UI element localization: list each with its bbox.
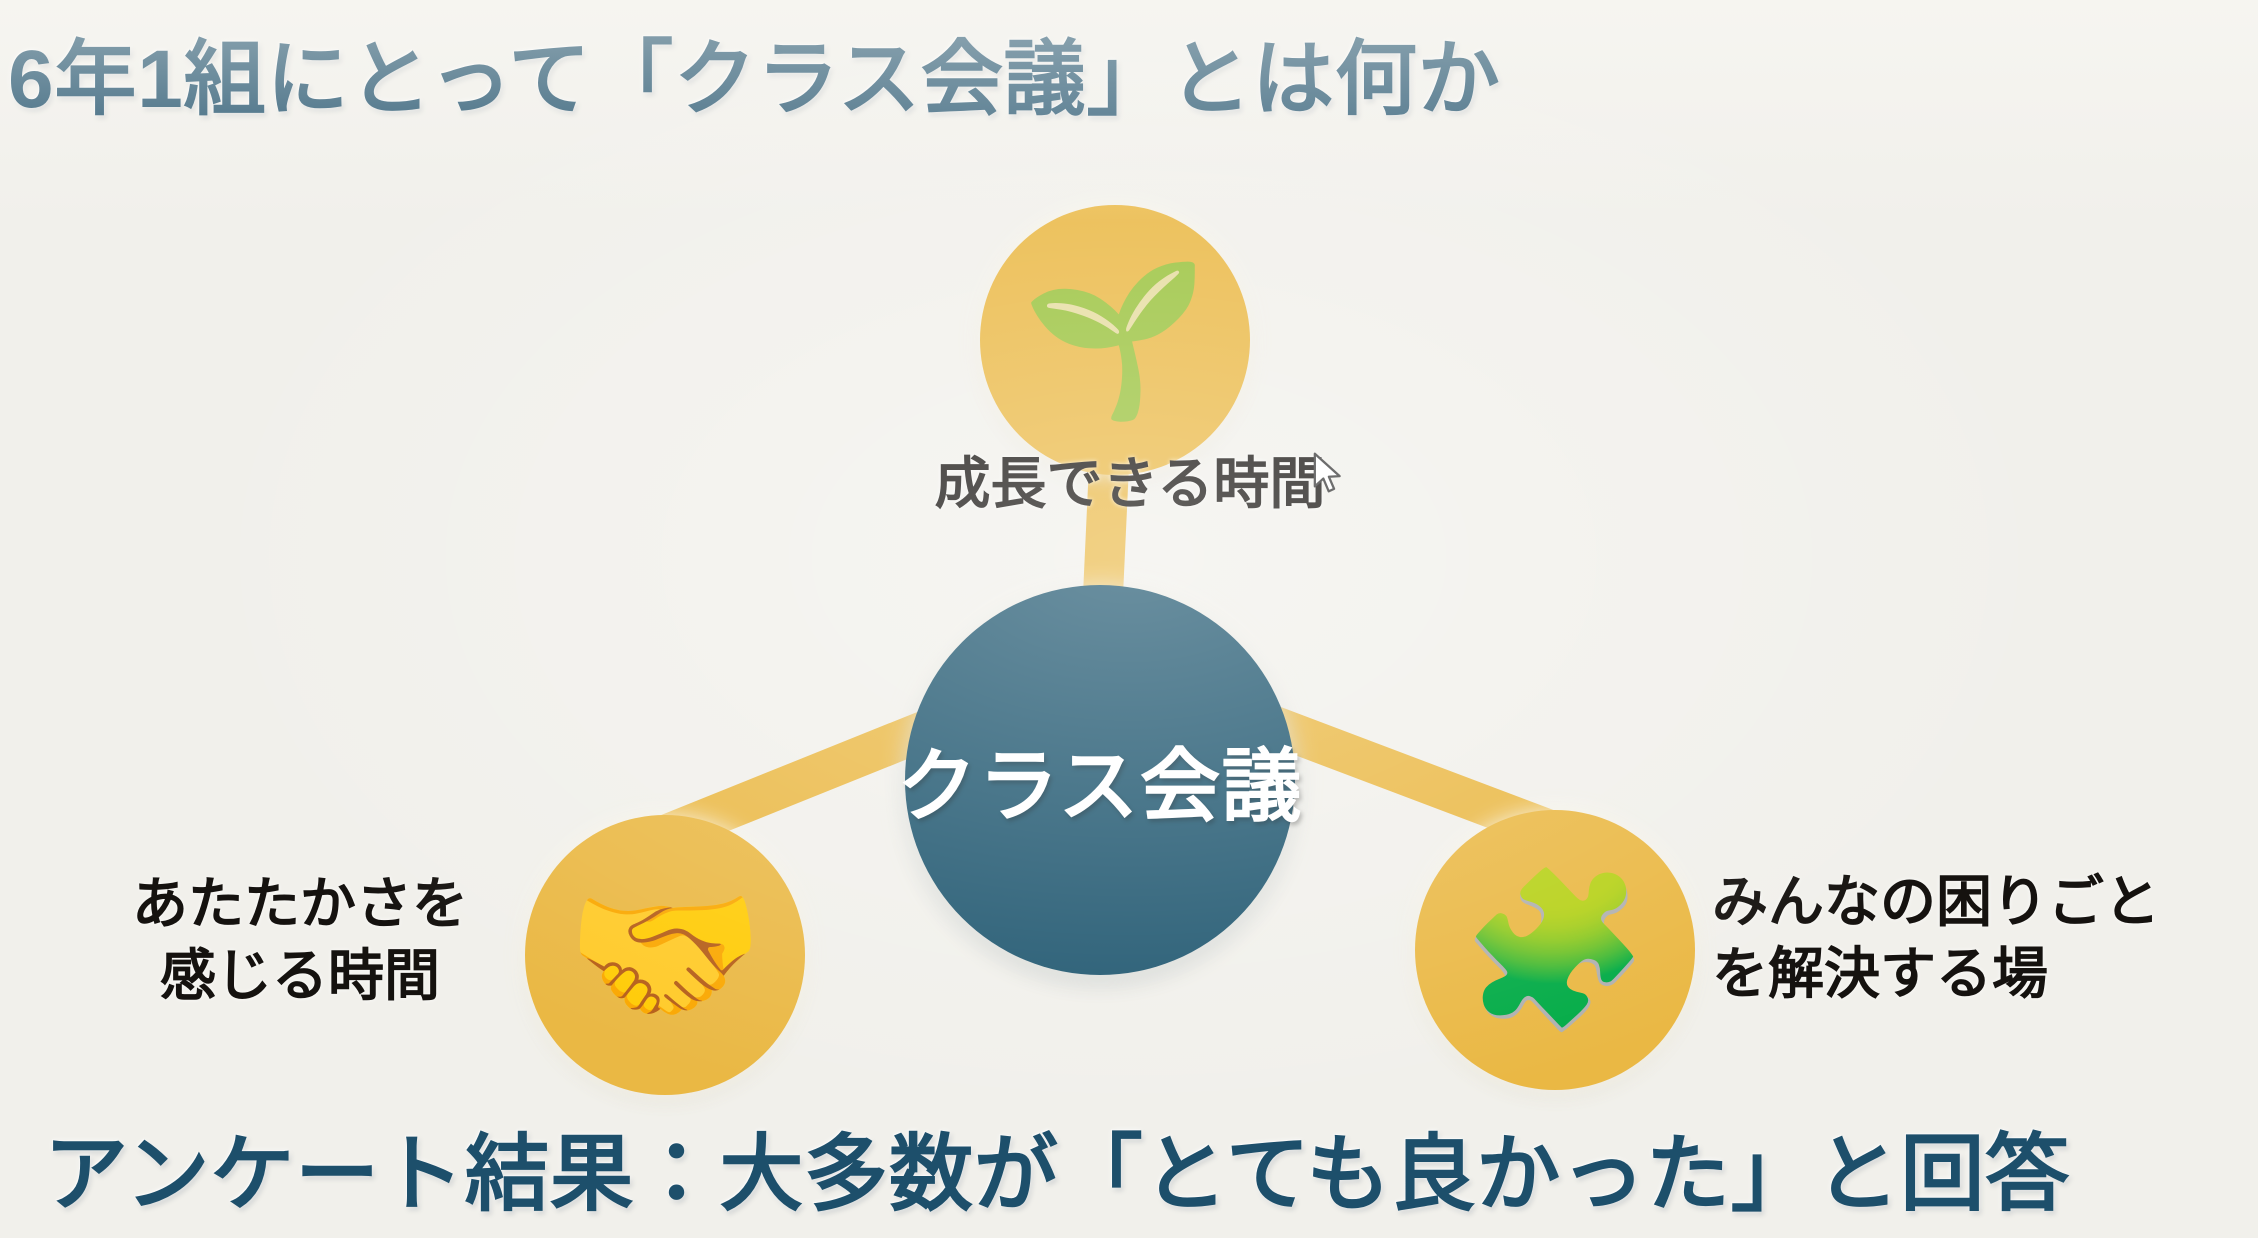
node-growth-label: 成長できる時間 — [900, 450, 1360, 522]
node-growth[interactable]: 🌱 — [980, 205, 1250, 475]
node-center-label: クラス会議 — [897, 722, 1303, 838]
class-meeting-diagram: 🌱 成長できる時間 クラス会議 🤝 あたたかさを 感じる時間 🧩 みんなの困りご… — [0, 120, 2258, 1120]
seedling-icon: 🌱 — [1022, 265, 1209, 415]
node-problem-solving[interactable]: 🧩 — [1415, 810, 1695, 1090]
puzzle-piece-icon: 🧩 — [1462, 875, 1649, 1025]
slide-title: 6年1組にとって「クラス会議」とは何か — [8, 34, 1501, 126]
node-problem-solving-label: みんなの困りごと を解決する場 — [1712, 868, 2212, 1011]
node-warmth[interactable]: 🤝 — [525, 815, 805, 1095]
presentation-slide: 6年1組にとって「クラス会議」とは何か 🌱 成長できる時間 クラス会議 🤝 あた… — [0, 0, 2258, 1238]
node-center-class-meeting[interactable]: クラス会議 — [905, 585, 1295, 975]
survey-result-callout: アンケート結果：大多数が「とても良かった」と回答 — [44, 1128, 2070, 1220]
node-warmth-label: あたたかさを 感じる時間 — [100, 870, 500, 1013]
handshake-icon: 🤝 — [565, 875, 764, 1035]
